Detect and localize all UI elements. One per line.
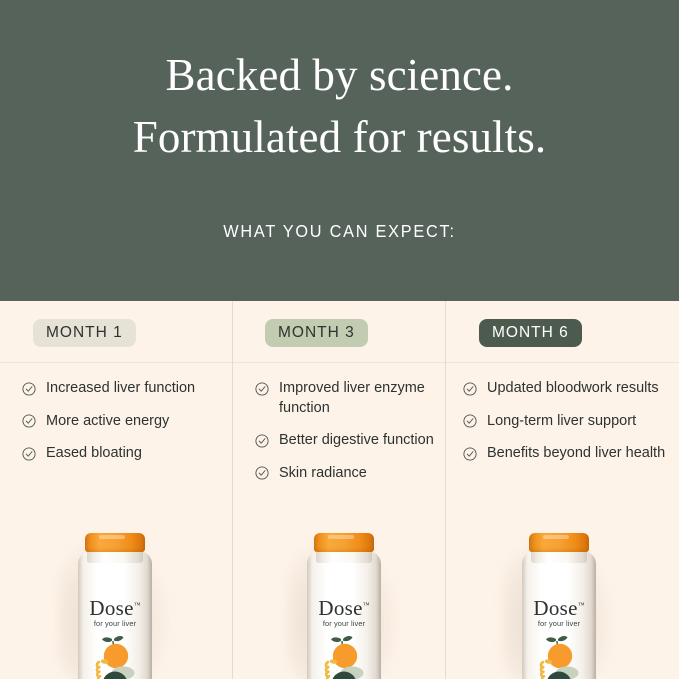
timeline-columns: MONTH 1 Increased liver function More ac… [0,301,679,679]
list-item: Long-term liver support [463,412,675,432]
product-tagline: for your liver [522,619,596,628]
check-circle-icon [463,414,477,428]
brand-name: Dose [318,596,362,620]
list-item-label: Increased liver function [46,379,218,399]
trademark-symbol: ™ [363,601,370,609]
label-illustration [529,631,589,679]
list-item: Increased liver function [22,379,218,399]
list-item-label: Improved liver enzyme function [279,379,441,418]
product-tagline: for your liver [307,619,381,628]
list-item-label: Benefits beyond liver health [487,444,675,464]
product-bottle: Dose™ for your liver [75,533,155,679]
column-month-6: MONTH 6 Updated bloodwork results Long-t… [446,301,679,679]
list-item: More active energy [22,412,218,432]
status-badge-month-1: MONTH 1 [33,319,136,347]
cap-highlight [99,535,125,539]
check-circle-icon [463,382,477,396]
check-circle-icon [463,447,477,461]
bottle-body: Dose™ for your liver [78,551,152,679]
product-bottle: Dose™ for your liver [304,533,384,679]
trademark-symbol: ™ [134,601,141,609]
benefit-list-month-6: Updated bloodwork results Long-term live… [463,379,675,464]
list-item: Better digestive function [255,431,441,451]
headline-line-1: Backed by science. [0,44,679,106]
bottle-body: Dose™ for your liver [307,551,381,679]
brand-name: Dose [533,596,577,620]
list-item-label: Long-term liver support [487,412,675,432]
list-item: Updated bloodwork results [463,379,675,399]
product-tagline: for your liver [78,619,152,628]
list-item: Eased bloating [22,444,218,464]
brand-wordmark: Dose™ [307,595,381,619]
status-badge-month-3: MONTH 3 [265,319,368,347]
brand-name: Dose [89,596,133,620]
check-circle-icon [22,414,36,428]
column-month-3: MONTH 3 Improved liver enzyme function B… [233,301,445,679]
label-illustration [85,631,145,679]
check-circle-icon [255,382,269,396]
hero-subtitle: WHAT YOU CAN EXPECT: [24,221,655,242]
label-illustration [314,631,374,679]
trademark-symbol: ™ [578,601,585,609]
marketing-infographic: Backed by science. Formulated for result… [0,0,679,679]
list-item-label: Skin radiance [279,464,441,484]
hero-banner: Backed by science. Formulated for result… [0,0,679,301]
bottle-cap [85,533,145,552]
list-item-label: Updated bloodwork results [487,379,675,399]
bottle-cap [314,533,374,552]
brand-wordmark: Dose™ [522,595,596,619]
benefit-list-month-3: Improved liver enzyme function Better di… [255,379,441,483]
cap-highlight [328,535,354,539]
check-circle-icon [255,466,269,480]
list-item-label: Better digestive function [279,431,441,451]
cap-highlight [543,535,569,539]
list-item-label: Eased bloating [46,444,218,464]
headline-line-2: Formulated for results. [0,106,679,168]
badge-wrap-month-1: MONTH 1 [33,319,136,347]
bottle-body: Dose™ for your liver [522,551,596,679]
brand-wordmark: Dose™ [78,595,152,619]
list-item: Improved liver enzyme function [255,379,441,418]
bottle-cap [529,533,589,552]
column-month-1: MONTH 1 Increased liver function More ac… [0,301,232,679]
product-bottle: Dose™ for your liver [519,533,599,679]
list-item: Skin radiance [255,464,441,484]
page-title: Backed by science. Formulated for result… [0,44,679,168]
check-circle-icon [22,447,36,461]
list-item: Benefits beyond liver health [463,444,675,464]
check-circle-icon [22,382,36,396]
badge-wrap-month-3: MONTH 3 [265,319,368,347]
check-circle-icon [255,434,269,448]
badge-wrap-month-6: MONTH 6 [479,319,582,347]
list-item-label: More active energy [46,412,218,432]
benefit-list-month-1: Increased liver function More active ene… [22,379,218,464]
status-badge-month-6: MONTH 6 [479,319,582,347]
